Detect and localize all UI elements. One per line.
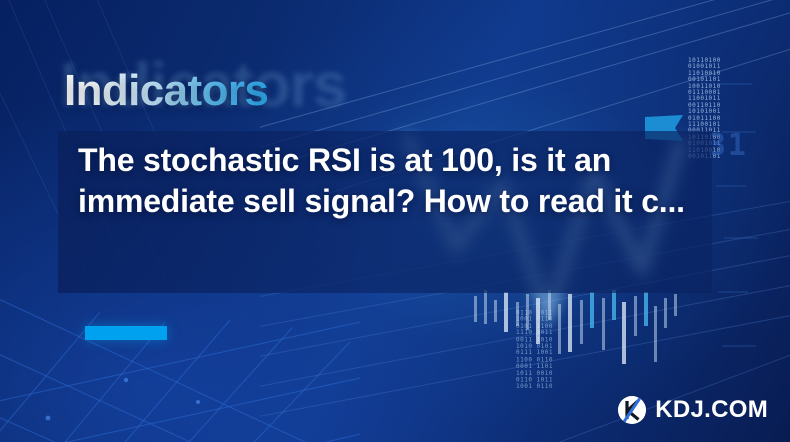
kdj-circle-k-icon [618, 396, 646, 424]
hud-tick-marks-graphic [712, 70, 772, 390]
accent-bar [85, 326, 167, 340]
candlestick-bars-graphic [470, 288, 700, 393]
article-cover-banner: 10110100 01001011 11010010 00101101 1001… [0, 0, 790, 442]
site-logo-text: KDJ.COM [655, 396, 768, 424]
page-title: Indicators [64, 66, 268, 116]
article-headline: The stochastic RSI is at 100, is it an i… [78, 140, 718, 222]
binary-data-column-center: 0110 1011 1001 0110 0101 1100 1110 0011 … [516, 310, 553, 391]
category-title-block: Indicators Indicators [64, 66, 268, 116]
site-logo[interactable]: KDJ.COM [618, 396, 768, 424]
